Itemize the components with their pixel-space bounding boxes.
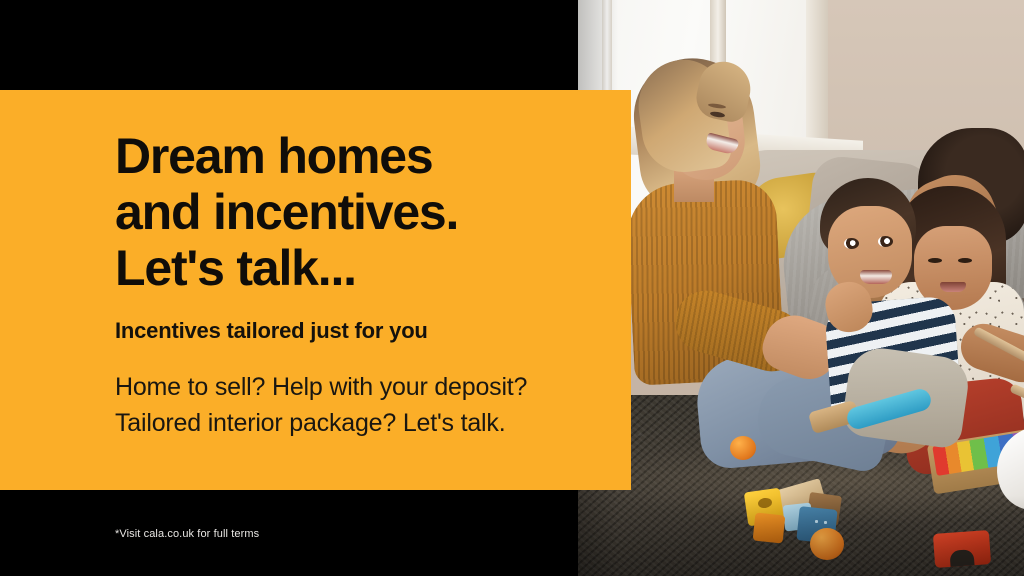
family-photo bbox=[578, 0, 1024, 576]
orange-ball-large bbox=[810, 528, 844, 560]
body-copy: Home to sell? Help with your deposit? Ta… bbox=[115, 369, 615, 441]
boy-eye-right bbox=[878, 236, 893, 247]
terms-footnote: *Visit cala.co.uk for full terms bbox=[115, 528, 259, 540]
marketing-banner: Dream homes and incentives. Let's talk..… bbox=[0, 0, 1024, 576]
window-frame-right bbox=[806, 0, 828, 160]
girl-eye-right bbox=[958, 258, 972, 263]
subheading: Incentives tailored just for you bbox=[115, 317, 615, 345]
orange-block bbox=[753, 513, 786, 544]
headline-line-2: and incentives. bbox=[115, 184, 615, 240]
body-line-1: Home to sell? Help with your deposit? bbox=[115, 369, 615, 405]
headline-line-3: Let's talk... bbox=[115, 240, 615, 296]
orange-ball-small bbox=[730, 436, 756, 460]
body-line-2: Tailored interior package? Let's talk. bbox=[115, 405, 615, 441]
headline-line-1: Dream homes bbox=[115, 128, 615, 184]
boy-smile bbox=[860, 270, 892, 284]
boy-eye-left bbox=[844, 238, 859, 249]
girl-smile bbox=[940, 282, 966, 292]
blue-block-dots bbox=[811, 515, 830, 529]
girl-eye-left bbox=[928, 258, 942, 263]
red-toy-arch-opening bbox=[949, 549, 974, 567]
page-title: Dream homes and incentives. Let's talk..… bbox=[115, 128, 615, 296]
